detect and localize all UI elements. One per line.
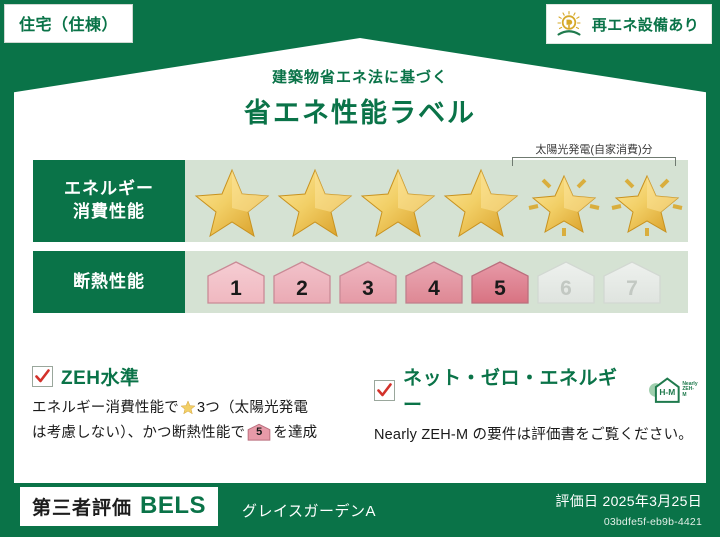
property-name: グレイスガーデンA	[242, 500, 376, 521]
insulation-performance-row: 断熱性能	[33, 251, 688, 313]
check-icon	[377, 383, 392, 398]
svg-text:H-M: H-M	[659, 387, 675, 397]
zeh-body-star-count: 3つ（太陽光発電	[197, 400, 308, 416]
renewable-energy-badge: 再エネ設備あり	[546, 4, 712, 44]
solar-annotation-label: 太陽光発電(自家消費)分	[506, 141, 682, 157]
zeh-standard-checkbox[interactable]	[32, 366, 53, 387]
energy-label-line2: 消費性能	[73, 201, 145, 224]
zeh-standard-title: ZEH水準	[61, 363, 140, 390]
energy-performance-panel: 太陽光発電(自家消費)分	[185, 160, 688, 242]
bels-certification-box: 第三者評価 BELS	[20, 487, 218, 526]
bels-logo-text: BELS	[140, 492, 206, 520]
star-icon	[357, 164, 439, 238]
zeh-m-house-icon: H-M	[647, 376, 681, 404]
bels-japanese-label: 第三者評価	[32, 493, 132, 520]
insulation-level-number: 5	[469, 277, 531, 301]
insulation-level-chip: 1	[205, 259, 267, 305]
zeh-standard-section: ZEH水準 エネルギー消費性能で3つ（太陽光発電 は考慮しない）、かつ断熱性能で…	[32, 363, 356, 446]
insulation-level-chip: 3	[337, 259, 399, 305]
title-main: 省エネ性能ラベル	[0, 91, 720, 130]
insulation-level-inline: 5	[247, 423, 271, 441]
energy-label-root: 住宅（住棟） 再エ	[0, 0, 720, 537]
sun-renewable-icon	[555, 10, 585, 38]
net-zero-body: Nearly ZEH-M の要件は評価書をご覧ください。	[374, 424, 698, 446]
net-zero-energy-section: ネット・ゼロ・エネルギー H-M Nearly ZEH-M Nearly ZEH…	[374, 363, 698, 446]
star-icon	[191, 164, 273, 238]
insulation-level-chip: 4	[403, 259, 465, 305]
insulation-level-number: 1	[205, 277, 267, 301]
insulation-label-text: 断熱性能	[73, 271, 145, 294]
zeh-body-part2: は考慮しない）、かつ断熱性能で	[32, 425, 245, 441]
insulation-level-number: 7	[601, 277, 663, 301]
star-icon	[440, 164, 522, 238]
page-title: 建築物省エネ法に基づく 省エネ性能ラベル	[0, 66, 720, 130]
insulation-level-scale: 1 2 3	[205, 259, 663, 305]
evaluation-date: 評価日 2025年3月25日	[555, 491, 702, 511]
renewable-badge-label: 再エネ設備あり	[592, 14, 699, 35]
rating-rows: エネルギー 消費性能	[33, 160, 688, 322]
insulation-level-chip: 2	[271, 259, 333, 305]
star-rating	[191, 164, 688, 238]
star-icon	[274, 164, 356, 238]
zeh-body-part3: を達成	[273, 425, 317, 441]
insulation-level-number: 3	[337, 277, 399, 301]
energy-performance-row: エネルギー 消費性能	[33, 160, 688, 242]
net-zero-checkbox[interactable]	[374, 380, 395, 401]
building-type-tag: 住宅（住棟）	[4, 4, 133, 43]
insulation-performance-panel: 1 2 3	[185, 251, 688, 313]
zeh-standard-header: ZEH水準	[32, 363, 356, 390]
insulation-level-number: 2	[271, 277, 333, 301]
insulation-level-inline-number: 5	[247, 424, 271, 441]
star-icon-inline	[180, 399, 196, 422]
insulation-level-chip: 6	[535, 259, 597, 305]
star-icon-solar	[523, 164, 605, 238]
zeh-m-logo-subtext: Nearly ZEH-M	[682, 382, 698, 399]
net-zero-title: ネット・ゼロ・エネルギー	[403, 363, 635, 417]
evaluation-id: 03bdfe5f-eb9b-4421	[604, 516, 702, 528]
energy-label-line1: エネルギー	[64, 178, 154, 201]
zeh-body-part1: エネルギー消費性能で	[32, 400, 179, 416]
energy-performance-label: エネルギー 消費性能	[33, 160, 185, 242]
insulation-level-number: 6	[535, 277, 597, 301]
net-zero-header: ネット・ゼロ・エネルギー H-M Nearly ZEH-M	[374, 363, 698, 417]
insulation-level-chip: 7	[601, 259, 663, 305]
footer: 第三者評価 BELS グレイスガーデンA 評価日 2025年3月25日 03bd…	[0, 483, 720, 537]
zeh-m-logo: H-M Nearly ZEH-M	[647, 376, 698, 404]
title-subtitle: 建築物省エネ法に基づく	[0, 66, 720, 87]
insulation-level-number: 4	[403, 277, 465, 301]
check-icon	[35, 369, 50, 384]
zeh-standard-body: エネルギー消費性能で3つ（太陽光発電 は考慮しない）、かつ断熱性能で5を達成	[32, 397, 356, 445]
zeh-m-sub-line2: ZEH-M	[682, 386, 694, 398]
building-type-label: 住宅（住棟）	[19, 17, 118, 34]
star-icon-solar	[606, 164, 688, 238]
criteria-sections: ZEH水準 エネルギー消費性能で3つ（太陽光発電 は考慮しない）、かつ断熱性能で…	[32, 363, 698, 446]
insulation-level-chip: 5	[469, 259, 531, 305]
insulation-performance-label: 断熱性能	[33, 251, 185, 313]
solar-annotation-bracket	[512, 157, 676, 166]
